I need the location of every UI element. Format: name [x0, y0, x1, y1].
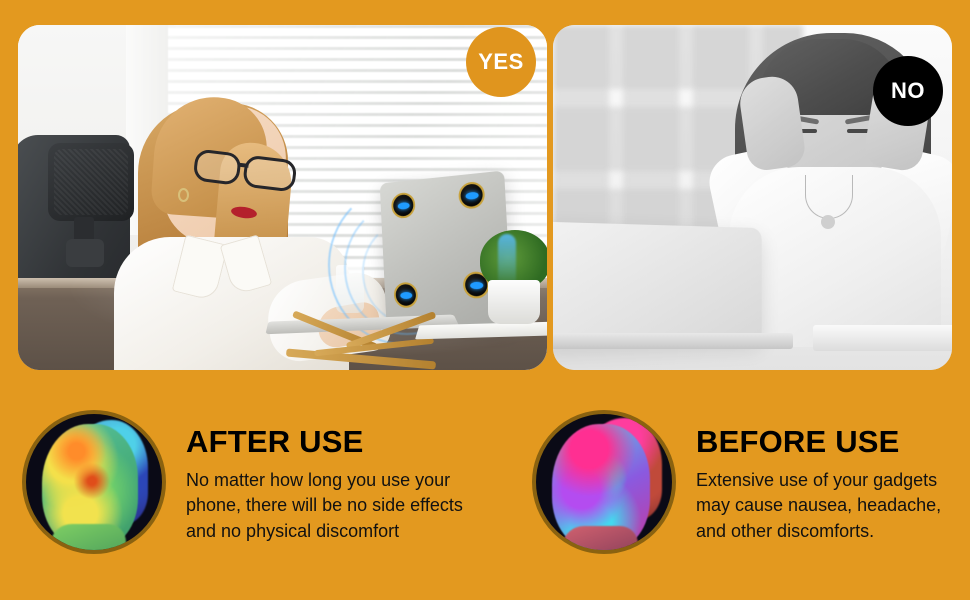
thermal-image-cool — [26, 414, 162, 550]
badge-yes: YES — [466, 27, 536, 97]
office-chair-adjuster — [66, 239, 104, 267]
feature-after-use: AFTER USE No matter how long you use you… — [22, 410, 522, 570]
laptop-base — [553, 333, 793, 349]
feature-description: No matter how long you use your phone, t… — [186, 468, 496, 545]
office-chair-headrest — [48, 143, 134, 221]
cooling-pad-sticker — [391, 192, 416, 219]
eyeglass-lens-left — [192, 148, 242, 185]
badge-no: NO — [873, 56, 943, 126]
thermal-head-scan-cool-icon — [22, 410, 166, 554]
notebook-on-desk — [813, 325, 952, 351]
laptop — [553, 222, 762, 347]
earring — [178, 188, 189, 202]
thermal-neck-region — [50, 524, 126, 554]
cooling-pad-sticker — [393, 282, 418, 308]
feature-title: BEFORE USE — [696, 426, 968, 459]
potted-plant-pot — [488, 280, 540, 324]
thermal-neck-region — [562, 526, 638, 554]
feature-description: Extensive use of your gadgets may cause … — [696, 468, 968, 545]
thermal-head-scan-hot-icon — [532, 410, 676, 554]
eyeglass-lens-right — [242, 155, 298, 193]
necklace-pendant — [821, 215, 835, 229]
feature-text-block: AFTER USE No matter how long you use you… — [186, 410, 496, 544]
drinking-glass — [336, 265, 364, 313]
photo-after-use — [18, 25, 547, 370]
feature-before-use: BEFORE USE Extensive use of your gadgets… — [532, 410, 968, 570]
feature-title: AFTER USE — [186, 426, 496, 459]
office-room-background — [18, 25, 547, 370]
thermal-image-hot — [536, 414, 672, 550]
cooling-pad-sticker — [458, 181, 485, 210]
feature-text-block: BEFORE USE Extensive use of your gadgets… — [696, 410, 968, 544]
